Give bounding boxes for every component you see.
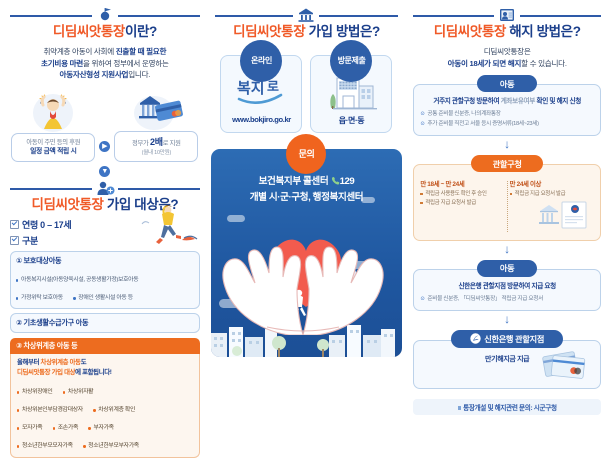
divider xyxy=(4,179,206,195)
flow-box-child: 아동이 주민 등의 후원 일정 금액 적립 시 xyxy=(11,133,95,162)
step-1-box: 거주지 관할구청 방문하여 계좌보유여부 확인 및 해지 신청 공통 준비물 신… xyxy=(413,84,601,136)
step-2-right: 만 24세 이상 적립금 지급 요청서 발급 xyxy=(510,179,594,234)
card-title: ② 기초생활수급가구 아동 xyxy=(16,318,194,328)
bank-cards-illustration xyxy=(540,349,592,384)
savings-flow: 아동이 주민 등의 후원 일정 금액 적립 시 ▶ xyxy=(4,85,206,162)
eligibility-card-2: ② 기초생활수급가구 아동 xyxy=(10,313,200,333)
join-card-visit[interactable]: 방문제출 xyxy=(310,55,392,133)
column-left: 디딤씨앗통장이란? 취약계층 아동이 사회에 진출할 때 필요한 초기비용 마련… xyxy=(4,6,206,419)
step-arrow-2-icon: ↓ xyxy=(407,244,607,254)
step-2-right-list: 적립금 지급 요청서 발급 xyxy=(510,190,594,199)
section-how-to-join-header: 디딤씨앗통장 가입 방법은? xyxy=(209,6,405,41)
step-1-pill: 아동 xyxy=(477,75,537,92)
list-item: 적립금 지급 요청서 발급 xyxy=(510,190,594,199)
list-item: 모자가족 xyxy=(17,424,42,433)
step-1-list: 공통 준비물 신분증, 나의계좌통장 추가 준비물 직전고 서울 응시 증명서류… xyxy=(420,110,594,129)
join-card-online[interactable]: 온라인 복지 로 www.bokjiro.go.kr xyxy=(220,55,302,133)
column-middle: 디딤씨앗통장 가입 방법은? 온라인 복지 로 www.bokjiro.go.k… xyxy=(209,6,405,419)
flow-gov-sub: (월내 10만원) xyxy=(117,149,195,157)
svg-text:로: 로 xyxy=(267,79,279,94)
step-2-columns: 만 18세 ~ 만 24세 적립금 사용용도 확인 후 승인 적립금 지급 요청… xyxy=(420,179,594,234)
bullet-square-icon xyxy=(458,406,462,410)
contact-callcenter-label: 보건복지부 콜센터 xyxy=(259,176,329,187)
list-item: 적립금 지급 요청서 발급 xyxy=(420,199,504,208)
note-a: 올해부터 xyxy=(17,359,41,366)
title-highlight: 디딤씨앗통장 xyxy=(31,197,103,212)
flow-arrow-icon: ▶ xyxy=(99,141,110,152)
note-c: 에 포함됩니다! xyxy=(75,369,111,376)
list-item: 추가 준비물 직전고 서울 응시 증명서류(18세~23세) xyxy=(420,120,594,129)
list-item: 공통 준비물 신분증, 나의계좌통장 xyxy=(420,110,594,119)
list-item: 청소년한부모부자가족 xyxy=(83,442,139,451)
contact-badge: 문의 xyxy=(286,134,326,174)
document-person-icon xyxy=(494,6,520,24)
list-item: 차상위장애인 xyxy=(17,388,52,397)
age-range-18-24: 만 18세 ~ 만 24세 xyxy=(420,179,504,188)
list-item: 청소년한부모모자가족 xyxy=(17,442,73,451)
section-title: 디딤씨앗통장 가입 방법은? xyxy=(209,24,405,41)
title-highlight: 디딤씨앗통장 xyxy=(53,24,125,39)
join-methods: 온라인 복지 로 www.bokjiro.go.kr 방문제출 xyxy=(209,55,405,133)
step-2-left-list: 적립금 사용용도 확인 후 승인 적립금 지급 요청서 발급 xyxy=(420,190,504,208)
child-with-flag-icon xyxy=(92,6,118,24)
cancel-lead-2b: 아동이 18세가 되면 해지 xyxy=(448,59,521,68)
step-1-lead-a: 거주지 관할구청 방문하여 xyxy=(433,98,500,105)
flow-gov-pre: 정부가 xyxy=(132,140,150,147)
contact-section: 문의 보건복지부 콜센터 129 개별 시·군·구청, 행정복지센터 xyxy=(211,149,403,357)
step-1-lead: 거주지 관할구청 방문하여 계좌보유여부 확인 및 해지 신청 xyxy=(420,97,594,107)
join-badge-online: 온라인 xyxy=(240,40,282,82)
title-highlight: 디딤씨앗통장 xyxy=(434,24,506,39)
contact-line-1: 보건복지부 콜센터 129 xyxy=(217,173,397,187)
divider xyxy=(407,6,607,22)
footer-note: 통장개설 및 해지관련 문의: 시군구청 xyxy=(413,399,601,415)
hands-illustration xyxy=(211,239,403,335)
list-item: 가정위탁 보호아동 xyxy=(16,294,63,303)
lead-1b: 진출할 때 필요한 xyxy=(116,47,166,56)
office-document-illustration xyxy=(510,201,594,234)
checkbox-icon xyxy=(10,220,19,229)
join-label-url: www.bokjiro.go.kr xyxy=(225,115,297,124)
age-range-24-plus: 만 24세 이상 xyxy=(510,179,594,188)
step-1-lead-c: 확인 및 해지 신청 xyxy=(535,98,581,105)
join-badge-visit: 방문제출 xyxy=(330,40,372,82)
note-b: 도 xyxy=(81,359,87,366)
phone-icon xyxy=(331,176,340,185)
note-o1: 차상위계층 아동 xyxy=(41,359,81,366)
flow-box-government: 정부가 2배로 지원 (월내 10만원) xyxy=(114,131,198,162)
title-rest: 가입 방법은? xyxy=(305,24,380,39)
card-3-item-list: 차상위장애인 차상위자활 차상위본인부담경감대상자 차상위계층 확인 모자가족 … xyxy=(17,380,193,452)
list-item: 적립금 사용용도 확인 후 승인 xyxy=(420,190,504,199)
list-item: 장애인 생활시설 아동 등 xyxy=(73,294,133,303)
flow-item-government: 정부가 2배로 지원 (월내 10만원) xyxy=(114,85,198,162)
step-2-pill: 관할구청 xyxy=(471,155,543,172)
government-and-card-illustration xyxy=(114,85,198,131)
eligibility-card-3-body: 올해부터 차상위계층 아동도 디딤씨앗통장 가입 대상에 포함됩니다! 차상위장… xyxy=(10,354,200,458)
svg-text:복지: 복지 xyxy=(237,80,265,97)
eligibility-category-label: 구분 xyxy=(22,234,38,247)
flow-gov-multiplier: 2배 xyxy=(150,137,163,147)
step-arrow-1-icon: ↓ xyxy=(407,139,607,149)
lead-3a: 입니다. xyxy=(128,70,150,79)
step-2-left: 만 18세 ~ 만 24세 적립금 사용용도 확인 후 승인 적립금 지급 요청… xyxy=(420,179,504,234)
contact-card: 보건복지부 콜센터 129 개별 시·군·구청, 행정복지센터 xyxy=(211,149,403,357)
eligibility-card-3-header: ③ 차상위계층 아동 등 xyxy=(10,338,200,354)
infographic-poster: 디딤씨앗통장이란? 취약계층 아동이 사회에 진출할 때 필요한 초기비용 마련… xyxy=(0,0,611,423)
flow-child-line2: 일정 금액 적립 시 xyxy=(30,148,76,155)
section-title: 디딤씨앗통장이란? xyxy=(4,24,206,41)
list-item: 차상위자활 xyxy=(63,388,93,397)
card-item-list: 아동복지시설(아동양육시설, 공동생활가정)보호아동 가정위탁 보호아동 장애인… xyxy=(16,268,194,304)
lead-1a: 취약계층 아동이 사회에 xyxy=(43,47,115,56)
list-item: 차상위본인부담경감대상자 xyxy=(17,406,83,415)
contact-line-2: 개별 시·군·구청, 행정복지센터 xyxy=(217,189,397,203)
title-rest: 해지 방법은? xyxy=(506,24,581,39)
note-o2: 디딤씨앗통장 가입 대상 xyxy=(17,369,75,376)
title-highlight: 디딤씨앗통장 xyxy=(233,24,305,39)
section-how-to-cancel-header: 디딤씨앗통장 해지 방법은? xyxy=(407,6,607,41)
list-item: 차상위계층 확인 xyxy=(93,406,135,415)
footer-note-text: 통장개설 및 해지관련 문의: 시군구청 xyxy=(463,405,557,412)
title-rest: 이란? xyxy=(125,24,157,39)
government-building-icon xyxy=(293,6,319,24)
step-3-lead: 신한은행 관할지점 방문하여 지급 요청 xyxy=(420,282,594,292)
flow-down-arrow-icon: ▼ xyxy=(99,166,110,177)
flow-item-child: 아동이 주민 등의 후원 일정 금액 적립 시 xyxy=(11,87,95,162)
step-1-lead-b: 계좌보유여부 xyxy=(501,98,535,105)
step-4-pill-label: 신한은행 관할지점 xyxy=(484,333,544,345)
running-children-illustration xyxy=(134,204,202,265)
checkbox-icon xyxy=(10,236,19,245)
cloud-decoration xyxy=(227,215,245,222)
card-3-note: 올해부터 차상위계층 아동도 디딤씨앗통장 가입 대상에 포함됩니다! xyxy=(17,358,193,377)
list-item: 준비물 신분증, 「디딤씨앗통장」 적립금 지급 요청서 xyxy=(420,295,594,304)
list-item: 조손가족 xyxy=(53,424,78,433)
list-item: 부자가족 xyxy=(88,424,113,433)
contact-phone-number: 129 xyxy=(340,176,355,187)
lead-2b: 초기비용 마련 xyxy=(41,59,83,68)
cancel-lead-1: 디딤씨앗통장은 xyxy=(484,47,531,56)
section-title: 디딤씨앗통장 해지 방법은? xyxy=(407,24,607,41)
join-label-office: 읍·면·동 xyxy=(315,115,387,126)
divider xyxy=(209,6,405,22)
eligibility-age-label: 연령 0 – 17세 xyxy=(22,218,71,231)
step-2-box: 만 18세 ~ 만 24세 적립금 사용용도 확인 후 승인 적립금 지급 요청… xyxy=(413,164,601,241)
person-plus-icon xyxy=(92,179,118,197)
cancel-intro: 디딤씨앗통장은 아동이 18세가 되면 해지할 수 있습니다. xyxy=(411,46,603,70)
lead-2a: 을 위하여 정부에서 운영하는 xyxy=(83,59,169,68)
step-3-list: 준비물 신분증, 「디딤씨앗통장」 적립금 지급 요청서 xyxy=(420,295,594,304)
flow-gov-post: 로 지원 xyxy=(163,140,181,147)
cancel-lead-2a: 할 수 있습니다. xyxy=(521,59,567,68)
step-arrow-3-icon: ↓ xyxy=(407,314,607,324)
cheering-child-illustration xyxy=(11,87,95,133)
step-3-pill: 아동 xyxy=(477,260,537,277)
flow-child-line1: 아동이 주민 등의 후원 xyxy=(26,139,80,146)
section-what-is-header: 디딤씨앗통장이란? xyxy=(4,6,206,41)
step-4-pill: 신한은행 관할지점 xyxy=(451,330,563,348)
intro-paragraph: 취약계층 아동이 사회에 진출할 때 필요한 초기비용 마련을 위하여 정부에서… xyxy=(8,46,202,81)
lead-3b: 아동자산형성 지원사업 xyxy=(60,70,129,79)
shinhan-bank-logo-icon xyxy=(470,333,481,346)
list-item: 아동복지시설(아동양육시설, 공동생활가정)보호아동 xyxy=(16,276,138,285)
column-right: 디딤씨앗통장 해지 방법은? 디딤씨앗통장은 아동이 18세가 되면 해지할 수… xyxy=(407,6,607,419)
divider xyxy=(4,6,206,22)
